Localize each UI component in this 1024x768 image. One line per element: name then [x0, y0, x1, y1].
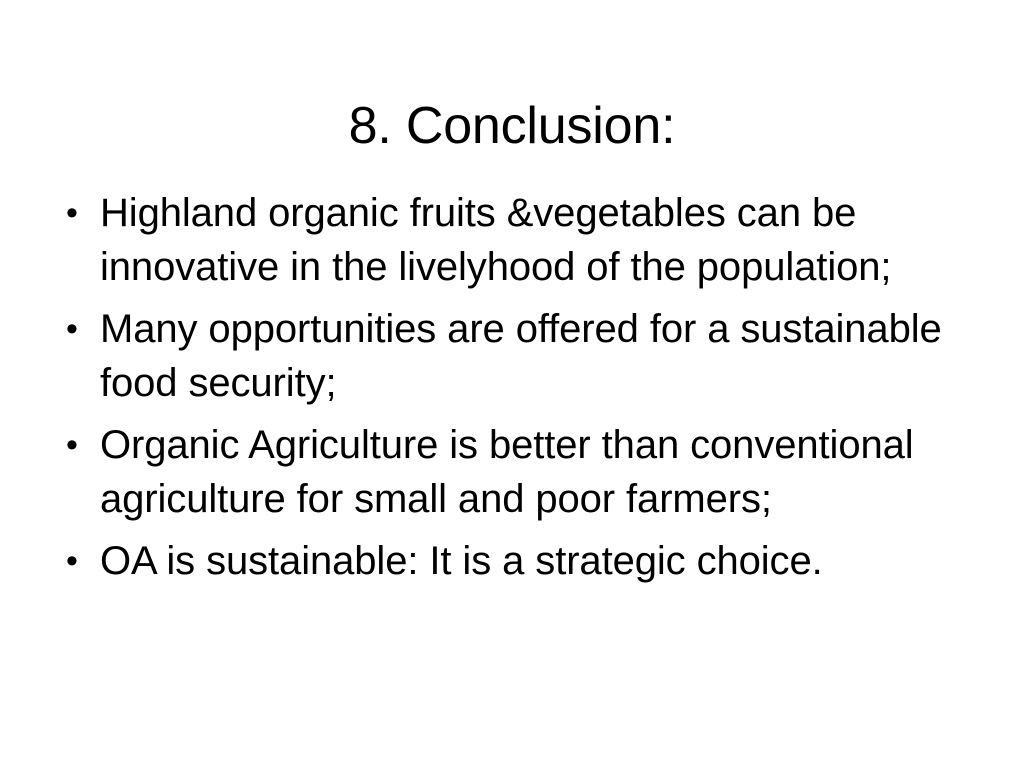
bullet-point-icon: • — [66, 186, 88, 240]
list-item: • OA is sustainable: It is a strategic c… — [56, 534, 972, 588]
page-title: 8. Conclusion: — [0, 97, 1024, 155]
bullet-list: • Highland organic fruits &vegetables ca… — [56, 186, 972, 588]
list-item: • Organic Agriculture is better than con… — [56, 418, 972, 526]
list-item: • Many opportunities are offered for a s… — [56, 302, 972, 410]
list-item: • Highland organic fruits &vegetables ca… — [56, 186, 972, 294]
list-item-text: Organic Agriculture is better than conve… — [100, 418, 972, 526]
bullet-point-icon: • — [66, 418, 88, 472]
bullet-point-icon: • — [66, 302, 88, 356]
presentation-slide: 8. Conclusion: • Highland organic fruits… — [0, 0, 1024, 768]
bullet-point-icon: • — [66, 534, 88, 588]
list-item-text: Highland organic fruits &vegetables can … — [100, 186, 972, 294]
list-item-text: Many opportunities are offered for a sus… — [100, 302, 972, 410]
list-item-text: OA is sustainable: It is a strategic cho… — [100, 534, 972, 588]
